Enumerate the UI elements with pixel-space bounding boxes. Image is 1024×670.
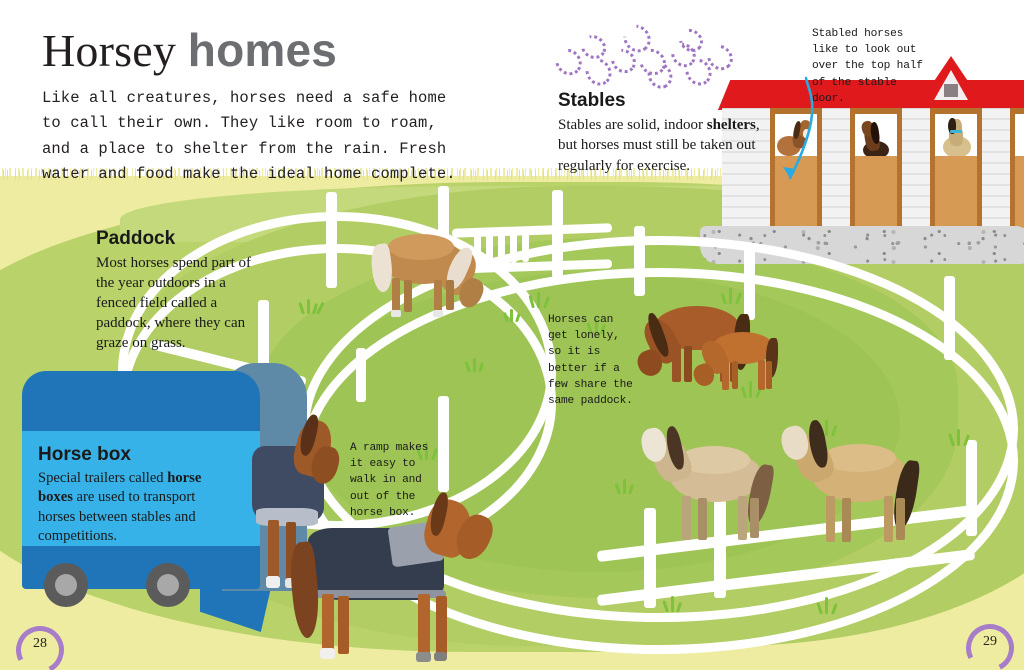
stables-body-part1: Stables are solid, indoor xyxy=(558,117,707,133)
grass-tuft xyxy=(950,430,972,446)
stable-stall-4 xyxy=(1010,108,1024,228)
callout-ramp: A ramp makes it easy to walk in and out … xyxy=(350,440,430,521)
page-number-right: 29 xyxy=(966,624,1012,670)
horse-grazing-palomino xyxy=(372,226,500,322)
page-number-left-text: 28 xyxy=(16,636,64,652)
callout-share-paddock: Horses can get lonely, so it is better i… xyxy=(548,312,638,409)
grass-tuft xyxy=(300,298,322,314)
stables-section: Stables Stables are solid, indoor shelte… xyxy=(558,90,773,176)
horse-box-heading: Horse box xyxy=(38,444,228,466)
book-spine xyxy=(512,0,513,670)
fence-post-g xyxy=(966,440,977,536)
paddock-heading: Paddock xyxy=(96,228,256,250)
stall-lower-door-4 xyxy=(1015,156,1024,228)
paddock-section: Paddock Most horses spend part of the ye… xyxy=(96,228,256,353)
stall-lower-door-1 xyxy=(775,156,817,228)
horse-foal-chestnut xyxy=(694,326,792,400)
fence-post-f xyxy=(944,276,955,360)
stall-window-2 xyxy=(855,114,897,158)
page-title-bold: homes xyxy=(188,24,337,76)
horse-box-section: Horse box Special trailers called horse … xyxy=(38,444,228,547)
stable-stall-3 xyxy=(930,108,982,228)
grass-tuft xyxy=(466,356,488,372)
callout-stable-door: Stabled horses like to look out over the… xyxy=(812,26,932,107)
horse-box-wheel-rear xyxy=(146,563,190,607)
grass-tuft xyxy=(504,306,526,322)
fence-post-c xyxy=(552,190,563,278)
page-number-left: 28 xyxy=(16,626,62,670)
stall-lower-door-3 xyxy=(935,156,977,228)
horse-box-wheel-front xyxy=(44,563,88,607)
stall-window-1 xyxy=(775,114,817,158)
fence-post-a xyxy=(326,192,337,288)
grass-tuft xyxy=(664,596,686,612)
page-title-light: Horsey xyxy=(42,25,188,76)
horse-box-body-part1: Special trailers called xyxy=(38,470,167,486)
stable-gable-vent xyxy=(944,84,958,97)
grass-tuft xyxy=(530,292,552,308)
paddock-body: Most horses spend part of the year outdo… xyxy=(96,253,256,353)
horse-box-body: Special trailers called horse boxes are … xyxy=(38,469,228,547)
fence-post-l xyxy=(356,348,366,402)
grass-tuft xyxy=(818,598,840,614)
stable-stall-2 xyxy=(850,108,902,228)
page-title: Horsey homes xyxy=(42,26,337,75)
stables-body-bold: shelters xyxy=(707,117,756,133)
book-page-spread: Horsey homes Like all creatures, horses … xyxy=(0,0,1024,670)
page-number-right-text: 29 xyxy=(966,634,1014,650)
horse-dun-pony-left xyxy=(640,424,782,560)
grass-tuft xyxy=(616,478,638,494)
fence-picket-5 xyxy=(522,228,529,262)
stables-heading: Stables xyxy=(558,90,773,112)
stables-body: Stables are solid, indoor shelters, but … xyxy=(558,115,773,176)
intro-paragraph: Like all creatures, horses need a safe h… xyxy=(42,86,472,187)
stall-window-3 xyxy=(935,114,977,158)
stall-window-4 xyxy=(1015,114,1024,158)
fence-post-d xyxy=(634,226,645,296)
stall-lower-door-2 xyxy=(855,156,897,228)
stable-stall-1 xyxy=(770,108,822,228)
horse-dun-pony-right xyxy=(782,420,932,560)
